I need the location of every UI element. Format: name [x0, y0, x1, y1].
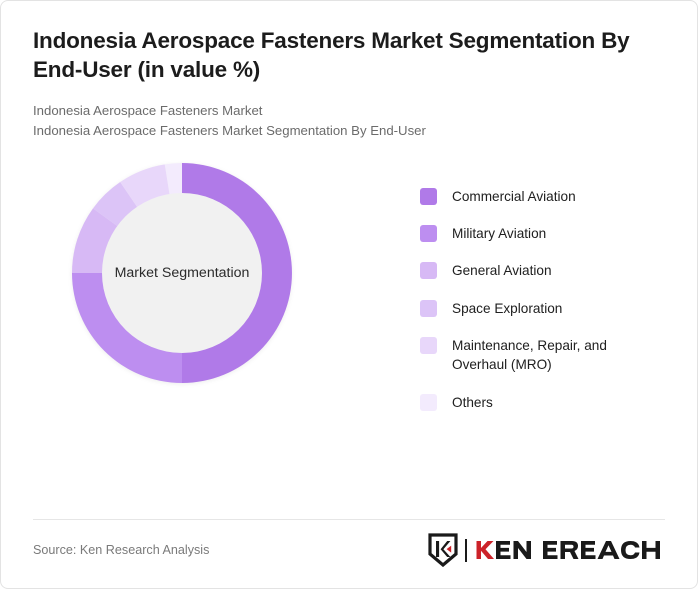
page-title: Indonesia Aerospace Fasteners Market Seg…	[33, 27, 665, 85]
chart-header: Indonesia Aerospace Fasteners Market Seg…	[1, 1, 697, 141]
legend-item[interactable]: Maintenance, Repair, and Overhaul (MRO)	[420, 336, 670, 375]
source-text: Source: Ken Research Analysis	[33, 543, 209, 557]
chart-footer: Source: Ken Research Analysis	[33, 530, 665, 570]
legend-swatch-icon	[420, 300, 437, 317]
subtitle-line-1: Indonesia Aerospace Fasteners Market	[33, 101, 665, 121]
legend-item-label: Space Exploration	[452, 299, 562, 318]
chart-card: Indonesia Aerospace Fasteners Market Seg…	[0, 0, 698, 589]
donut-chart: Market Segmentation	[72, 163, 292, 383]
chart-body: Market Segmentation Commercial AviationM…	[1, 151, 697, 471]
legend-swatch-icon	[420, 337, 437, 354]
legend-item-label: Maintenance, Repair, and Overhaul (MRO)	[452, 336, 652, 375]
ken-research-shield-icon	[428, 533, 458, 567]
legend-swatch-icon	[420, 262, 437, 279]
brand-logo	[428, 533, 665, 567]
subtitle-line-2: Indonesia Aerospace Fasteners Market Seg…	[33, 121, 665, 141]
chart-legend: Commercial AviationMilitary AviationGene…	[420, 187, 670, 430]
legend-item[interactable]: Military Aviation	[420, 224, 670, 243]
legend-swatch-icon	[420, 394, 437, 411]
legend-item-label: Commercial Aviation	[452, 187, 576, 206]
legend-item-label: Military Aviation	[452, 224, 546, 243]
donut-center-label: Market Segmentation	[115, 265, 250, 281]
subtitle-block: Indonesia Aerospace Fasteners Market Ind…	[33, 101, 665, 141]
legend-swatch-icon	[420, 225, 437, 242]
legend-swatch-icon	[420, 188, 437, 205]
legend-item[interactable]: Commercial Aviation	[420, 187, 670, 206]
legend-item[interactable]: Space Exploration	[420, 299, 670, 318]
legend-item-label: General Aviation	[452, 261, 552, 280]
brand-divider	[465, 539, 467, 562]
legend-item[interactable]: General Aviation	[420, 261, 670, 280]
footer-divider	[33, 519, 665, 520]
donut-center-hole: Market Segmentation	[102, 193, 262, 353]
legend-item[interactable]: Others	[420, 393, 670, 412]
brand-wordmark	[475, 537, 665, 563]
legend-item-label: Others	[452, 393, 493, 412]
